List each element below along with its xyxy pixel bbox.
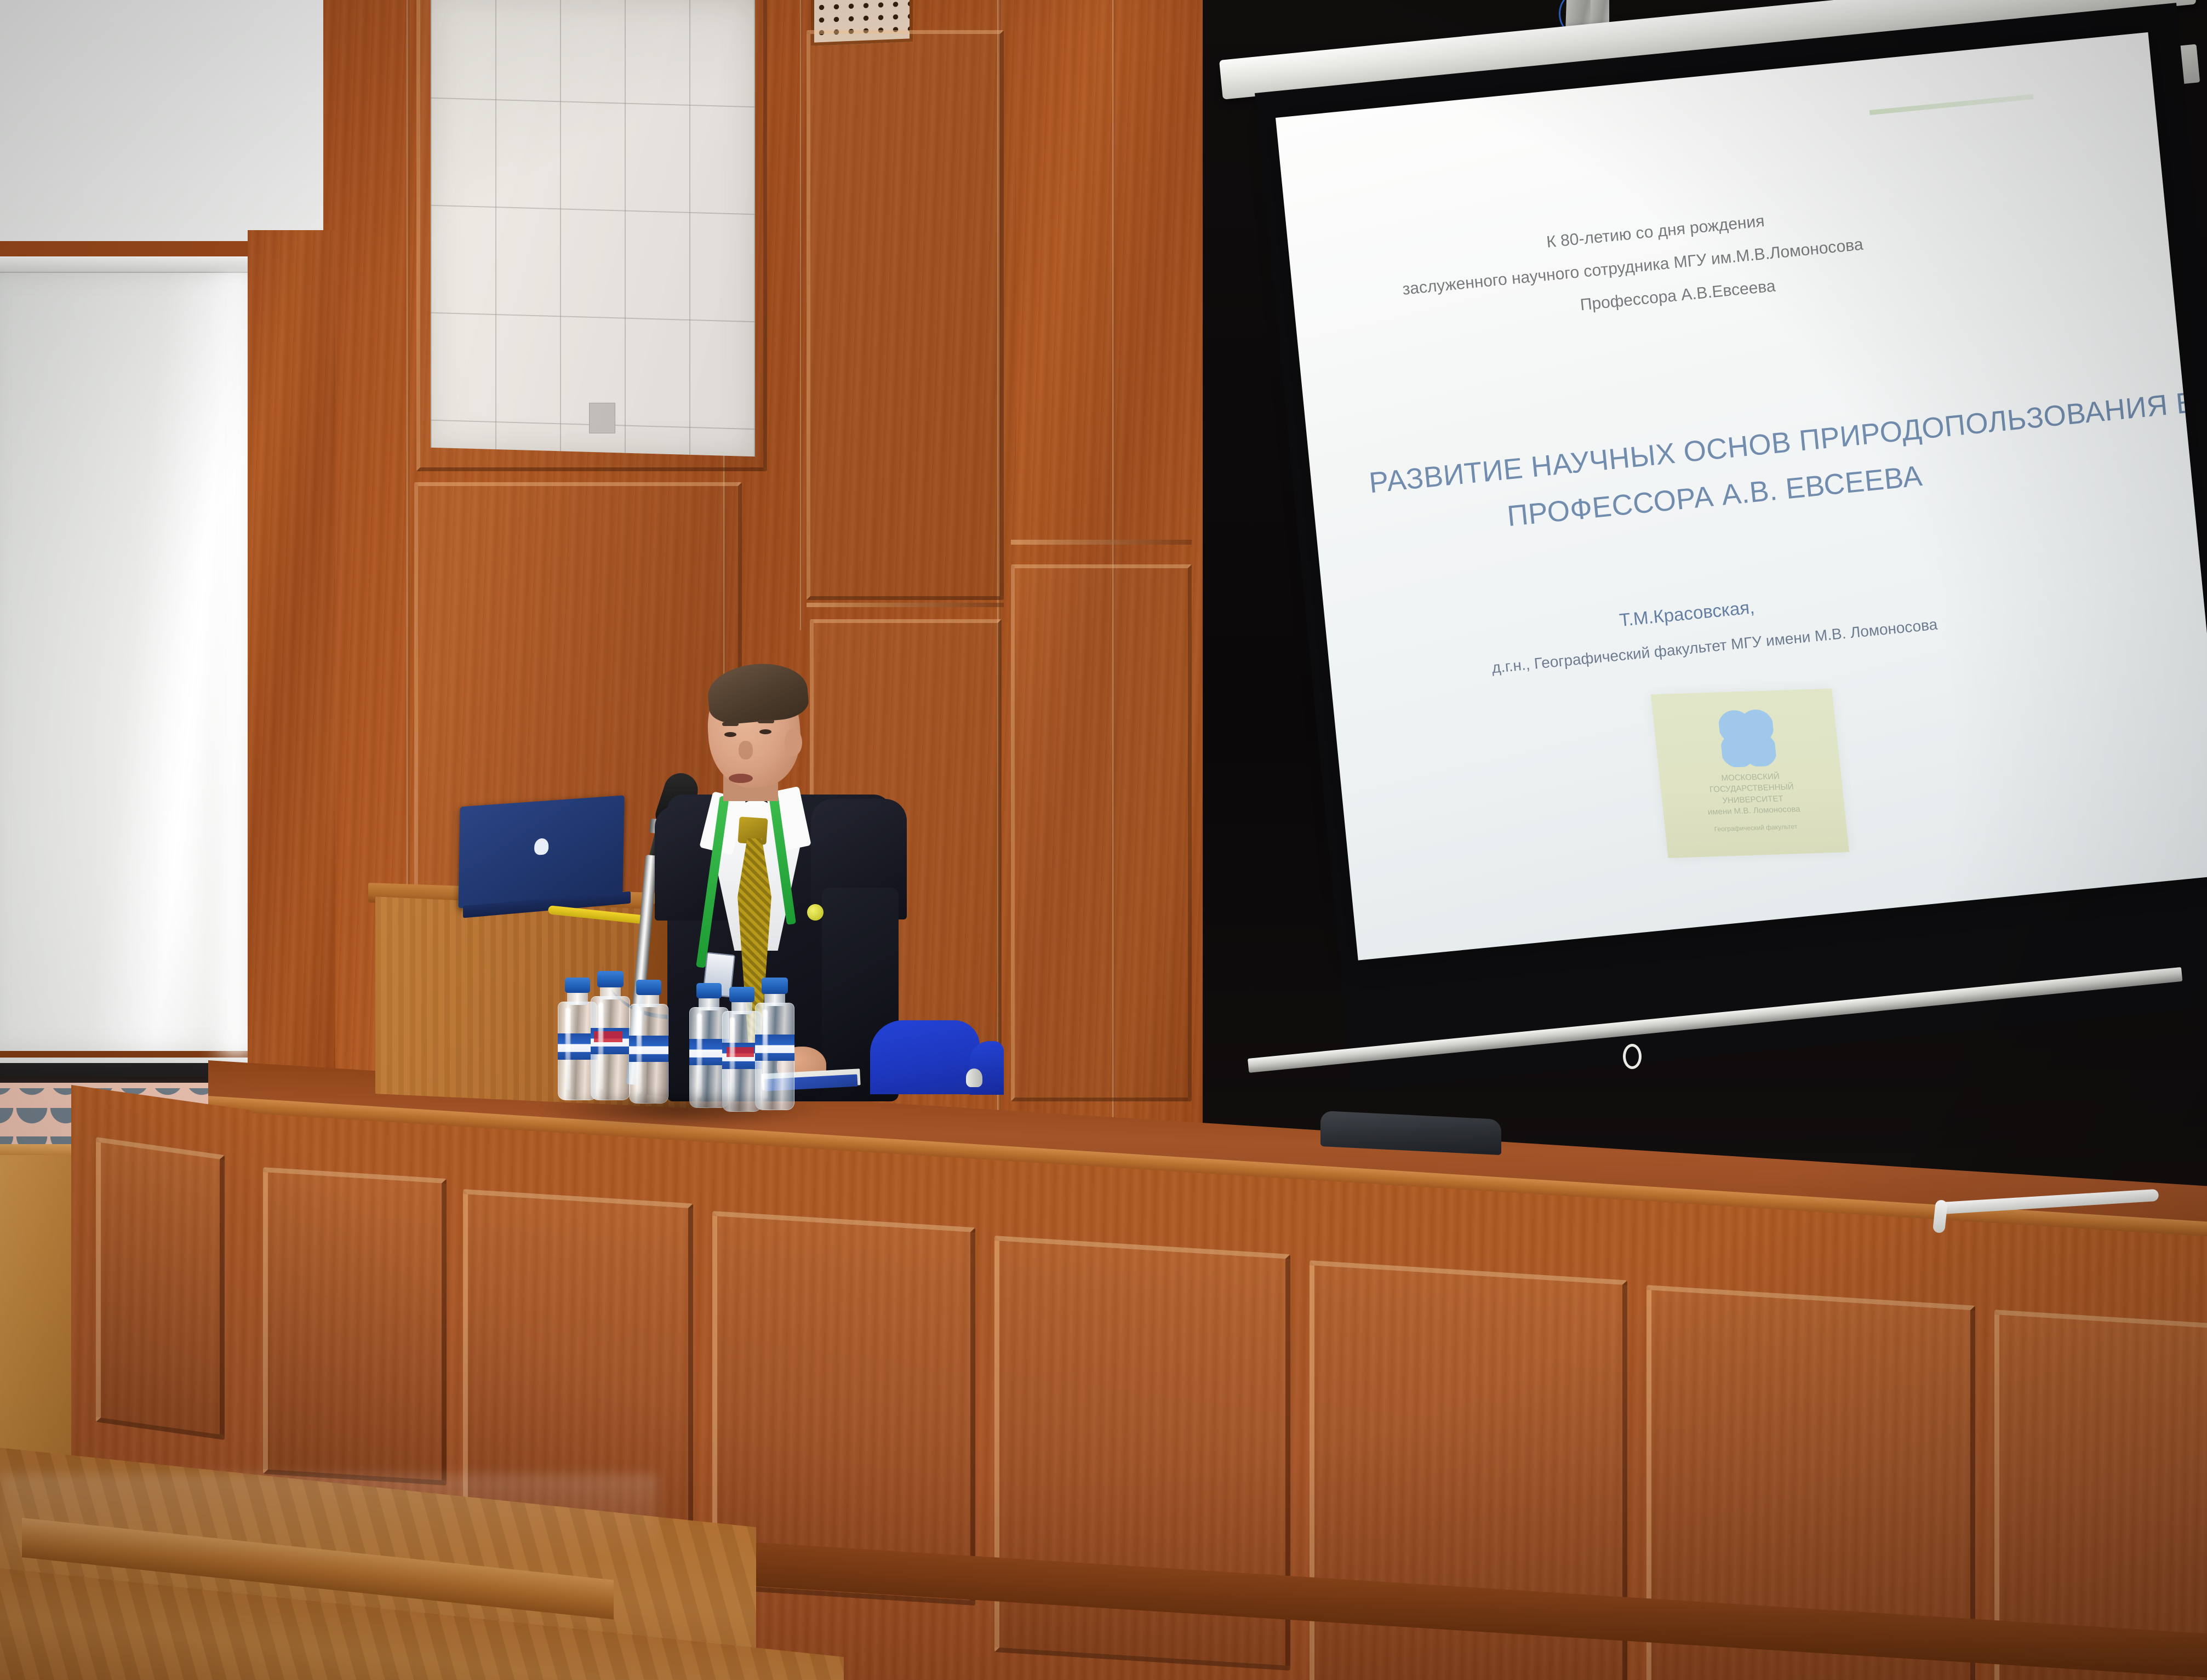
- logo-caption: МОСКОВСКИЙ ГОСУДАРСТВЕННЫЙ УНИВЕРСИТЕТ и…: [1659, 769, 1845, 820]
- water-bottle[interactable]: [591, 996, 630, 1100]
- logo-footer-text: Географический факультет: [1665, 821, 1847, 835]
- mineral-water-label: [629, 1036, 668, 1062]
- lapel-pin-icon: [807, 904, 824, 921]
- msu-logo-card: МОСКОВСКИЙ ГОСУДАРСТВЕННЫЙ УНИВЕРСИТЕТ и…: [1651, 688, 1849, 858]
- bottle-cap: [729, 987, 754, 1002]
- speaker-eye-right: [759, 729, 771, 734]
- wood-trim: [1011, 540, 1192, 545]
- slide-author: Т.М.Красовская,: [1619, 597, 1756, 631]
- wall-panel: [807, 30, 1004, 600]
- radiator-top-shadow: [0, 1063, 241, 1083]
- bottle-highlight: [637, 1010, 642, 1094]
- slide-affiliation: д.г.н., Географический факультет МГУ име…: [1491, 616, 1938, 677]
- mineral-water-label: [755, 1035, 794, 1061]
- bottle-cap: [696, 983, 722, 998]
- slide-accent-line: [1869, 94, 2033, 115]
- speaker-ear: [785, 729, 802, 756]
- chair-bolt-icon: [966, 1068, 982, 1087]
- bottle-cap: [565, 978, 590, 993]
- wood-seam: [800, 0, 802, 630]
- slide-dedication-line-3: Профессора А.В.Евсеева: [1579, 277, 1776, 315]
- side-desk-body: [0, 1155, 77, 1495]
- screen-pull-ring[interactable]: [1623, 1044, 1642, 1069]
- speaker-brow-left: [722, 722, 739, 726]
- grid-panel-surround: [416, 0, 767, 471]
- floor-reflection: [0, 1474, 657, 1562]
- bottle-highlight: [565, 1008, 570, 1090]
- stage-panel: [263, 1167, 447, 1485]
- water-bottle[interactable]: [629, 1004, 668, 1104]
- bottle-cap: [597, 971, 624, 987]
- laptop-brand-icon: [534, 838, 549, 855]
- stage-riser-panel: [96, 1137, 225, 1440]
- presentation-slide: К 80-летию со дня рождения заслуженного …: [1276, 32, 2207, 961]
- projection-screen[interactable]: К 80-летию со дня рождения заслуженного …: [1276, 32, 2207, 961]
- slide-dedication-line-2: заслуженного научного сотрудника МГУ им.…: [1402, 236, 1864, 299]
- bottle-highlight: [730, 1017, 735, 1102]
- bottle-cap: [636, 980, 661, 995]
- speaker-mouth: [729, 774, 753, 783]
- bottle-cap: [762, 978, 788, 994]
- blind-rail: [0, 256, 263, 273]
- window-jamb-wood: [248, 230, 335, 1085]
- bottle-highlight: [697, 1013, 702, 1098]
- bottle-highlight: [763, 1009, 768, 1100]
- wood-trim: [807, 603, 1004, 607]
- speaker-nose: [739, 741, 753, 759]
- bottle-highlight: [598, 1002, 603, 1090]
- blue-stacking-chair[interactable]: [870, 1020, 980, 1094]
- slide-dedication-line-1: К 80-летию со дня рождения: [1546, 212, 1765, 252]
- speaker-brow-right: [758, 719, 774, 723]
- presenter-laptop[interactable]: [458, 795, 624, 908]
- speaker-eye-left: [724, 732, 736, 737]
- conference-hall-photo: К 80-летию со дня рождения заслуженного …: [0, 0, 2207, 1680]
- bottle-shadow: [537, 1090, 822, 1129]
- wall-panel: [1011, 564, 1192, 1101]
